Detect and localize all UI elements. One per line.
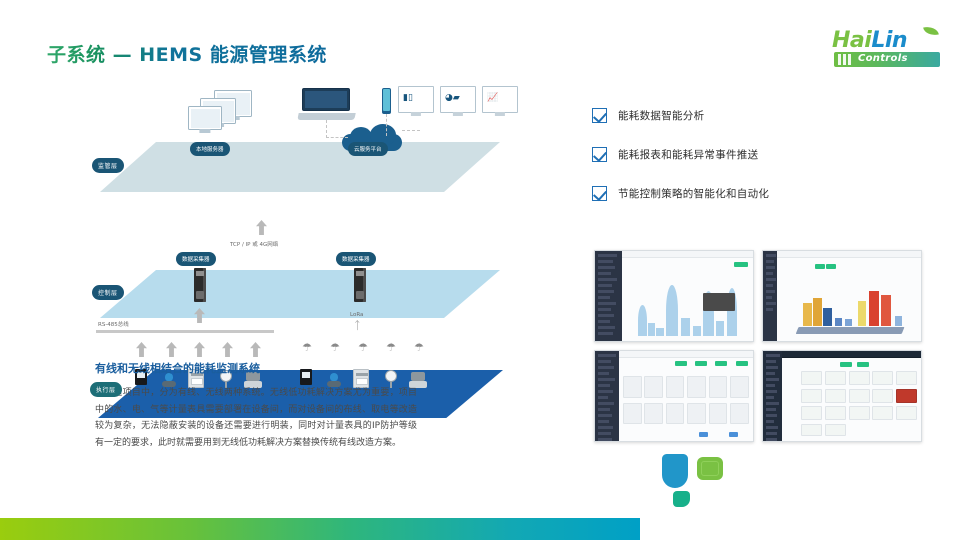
feature-list: 能耗数据智能分析 能耗报表和能耗异常事件推送 节能控制策略的智能化和自动化 [592,108,942,225]
connector-laptop-cloud [326,120,327,138]
status-tile[interactable] [896,406,917,420]
node-label-local-server: 本地服务器 [190,142,230,156]
brand-logo: HaiLin Controls [832,28,944,72]
rs485-bus-line [96,330,274,333]
lora-caption: LoRa [350,312,363,318]
legend-chip-2 [826,264,836,269]
layer-tag-supervision: 监管层 [92,158,124,173]
page-title: 子系统 — HEMS 能源管理系统 [47,40,327,67]
screenshot-status-grid[interactable] [762,350,922,442]
node-label-cloud: 云服务平台 [348,142,388,156]
pagination-active[interactable] [699,432,708,437]
node-label-collector-1: 数据采集器 [176,252,216,266]
status-tile[interactable] [825,406,846,420]
trend-widget-icon: 📈 [482,86,518,113]
card-item[interactable] [666,376,685,398]
node-label-collector-2: 数据采集器 [336,252,376,266]
status-tile[interactable] [896,371,917,385]
status-tile[interactable] [825,424,846,436]
status-tile[interactable] [849,406,870,420]
wifi-icon-1: ☂ [302,342,312,353]
card-item[interactable] [687,403,706,425]
layer-surface [100,270,500,318]
report-widget-icon: ▮▯ [398,86,434,113]
local-server-illustration [188,90,258,138]
layer-control [100,270,500,318]
card-item[interactable] [687,376,706,398]
device-arrow-4 [222,342,233,357]
thumb-canvas [622,258,753,341]
bar-red-2 [881,295,891,327]
thumb-sidebar [763,351,782,441]
feature-item-1[interactable]: 能耗数据智能分析 [592,108,942,123]
architecture-diagram: 监管层 本地服务器 云服务平台 ▮▯ ◕▰ 📈 TCP / IP 或 4G网络 … [80,80,550,350]
status-tile[interactable] [801,371,822,385]
status-tile[interactable] [801,389,822,403]
logo-banner: Controls [834,52,940,67]
logo-lin-text: Lin [871,28,907,53]
toolbar-chip-4 [675,361,687,366]
thumb-sidebar [595,351,619,441]
connector-phone [386,114,387,136]
lora-antenna-icon: ᛏ [354,320,361,331]
status-tile[interactable] [872,389,893,403]
thumb-canvas [782,358,921,441]
card-item[interactable] [644,403,663,425]
footer-gradient-bar [0,518,640,540]
thumb-canvas [777,258,921,341]
logo-wordmark: HaiLin [832,28,907,53]
bar-yellow-2 [858,301,867,326]
card-item[interactable] [709,376,728,398]
bar-orange-1 [813,298,822,326]
feature-label-1: 能耗数据智能分析 [618,108,704,123]
device-arrow-5 [250,342,261,357]
connector-cloud-left [326,137,348,138]
screenshot-gallery [594,250,922,442]
logo-controls-text: Controls [858,53,908,64]
electric-meter-icon-2 [300,369,312,385]
wifi-icon-4: ☂ [386,342,396,353]
decor-shape-teal [673,491,690,507]
area-peak-1 [638,305,647,337]
logo-hai-text: Hai [832,28,871,53]
pie-widget-icon: ◕▰ [440,86,476,113]
card-item[interactable] [644,376,663,398]
card-item[interactable] [623,403,642,425]
status-tile[interactable] [825,389,846,403]
toolbar-chip-2 [715,361,727,366]
device-arrow-1 [136,342,147,357]
wifi-icon-5: ☂ [414,342,424,353]
bar-blue-2 [835,318,842,326]
decor-shape-green [697,457,723,480]
caption-body: 在改造项目中，分为有线、无线两种系统。无线低功耗解决方案尤为重要，项目中的水、电… [95,385,417,452]
layer-tag-execution: 执行层 [90,382,122,397]
layer-surface [100,142,500,192]
bar-yellow-1 [803,303,812,326]
leaf-icon [923,25,939,38]
area-base-3 [681,318,690,336]
card-item[interactable] [730,403,749,425]
thumb-action-chip [734,262,748,267]
area-base-5 [716,321,724,336]
device-arrow-3 [194,342,205,357]
laptop-icon [302,88,350,120]
pagination-next[interactable] [729,432,738,437]
status-tile[interactable] [801,424,822,436]
card-item[interactable] [623,376,642,398]
layer-tag-control: 控制层 [92,285,124,300]
filter-chip-1[interactable] [840,362,852,367]
checkbox-checked-icon[interactable] [592,108,607,123]
bar-blue-3 [845,319,852,326]
status-tile[interactable] [801,406,822,420]
area-base-2 [656,328,664,336]
checkbox-checked-icon[interactable] [592,147,607,162]
status-tile[interactable] [849,371,870,385]
device-arrow-2 [166,342,177,357]
toolbar-chip-1 [736,361,748,366]
bus-caption: RS-485总线 [98,320,129,328]
connector-cloud-right [402,130,420,131]
monitor-front-icon [188,106,222,130]
screenshot-3d-bar[interactable] [762,250,922,342]
feature-label-2: 能耗报表和能耗异常事件推送 [618,147,758,162]
area-peak-2 [666,285,678,336]
card-item[interactable] [666,403,685,425]
screenshot-card-list[interactable] [594,350,754,442]
decor-shape-blue [662,454,688,488]
chart-floor [796,327,905,334]
status-tile[interactable] [825,371,846,385]
screenshot-energy-trend[interactable] [594,250,754,342]
feature-label-3: 节能控制策略的智能化和自动化 [618,186,769,201]
toolbar-chip-3 [695,361,707,366]
thumb-canvas [619,358,753,441]
area-base-4 [693,326,701,336]
feature-item-2[interactable]: 能耗报表和能耗异常事件推送 [592,147,942,162]
thumb-topbar [763,351,921,358]
area-base-1 [648,323,655,336]
status-tile[interactable] [872,371,893,385]
chart-tooltip [703,293,734,311]
thumb-topbar [595,351,753,358]
caption-heading: 有线和无线相结合的能耗监测系统 [95,360,260,376]
status-tile[interactable] [872,406,893,420]
status-tile-alarm[interactable] [896,389,917,403]
checkbox-checked-icon[interactable] [592,186,607,201]
status-tile[interactable] [849,389,870,403]
card-item[interactable] [730,376,749,398]
card-item[interactable] [709,403,728,425]
thumb-sidebar [763,251,777,341]
bar-blue-1 [823,308,832,326]
data-collector-icon-2 [354,268,366,302]
bar-red-1 [869,291,879,326]
uplink-arrow-icon [256,220,267,235]
data-collector-icon-1 [194,268,206,302]
uplink-caption: TCP / IP 或 4G网络 [230,240,278,248]
layer-supervision [100,142,500,192]
thumb-topbar [763,251,921,258]
wifi-icon-2: ☂ [330,342,340,353]
mobile-phone-icon [382,88,391,114]
filter-chip-2[interactable] [857,362,869,367]
feature-item-3[interactable]: 节能控制策略的智能化和自动化 [592,186,942,201]
wifi-icon-3: ☂ [358,342,368,353]
signal-bars-icon [838,54,851,65]
thumb-sidebar [595,251,622,341]
legend-chip-1 [815,264,825,269]
bar-blue-4 [895,316,902,326]
